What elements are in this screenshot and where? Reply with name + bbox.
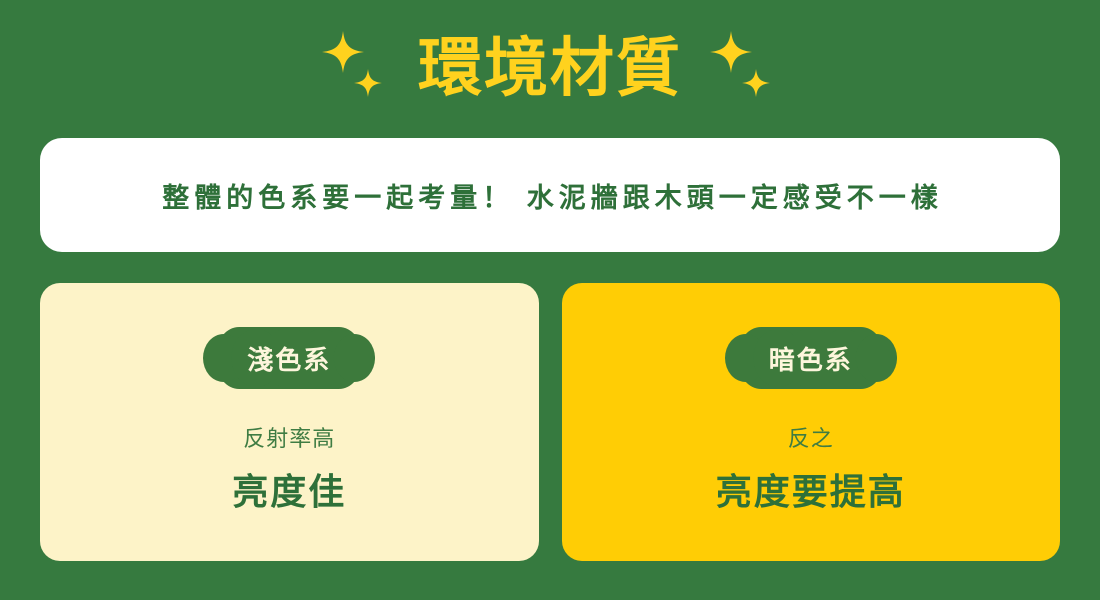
card-subtitle: 反之 <box>788 421 834 453</box>
card-dark-colors: 暗色系 反之 亮度要提高 <box>562 283 1061 561</box>
card-main-text: 亮度佳 <box>232 463 346 515</box>
badge-dark-colors: 暗色系 <box>725 327 897 389</box>
badge-label: 暗色系 <box>735 340 887 377</box>
headline-banner: 整體的色系要一起考量！ 水泥牆跟木頭一定感受不一樣 <box>40 138 1060 252</box>
sparkle-group-right <box>708 29 780 111</box>
title-block: 環境材質 <box>0 20 1100 120</box>
sparkle-icon <box>354 69 382 97</box>
page-title: 環境材質 <box>418 36 682 100</box>
card-main-text: 亮度要提高 <box>716 463 906 515</box>
card-subtitle: 反射率高 <box>243 421 335 453</box>
sparkle-group-left <box>320 29 392 111</box>
card-light-colors: 淺色系 反射率高 亮度佳 <box>40 283 539 561</box>
badge-label: 淺色系 <box>213 340 365 377</box>
comparison-cards: 淺色系 反射率高 亮度佳 暗色系 反之 亮度要提高 <box>40 283 1060 561</box>
sparkle-icon <box>322 31 364 73</box>
sparkle-icon <box>710 31 752 73</box>
sparkle-icon <box>742 69 770 97</box>
banner-text: 整體的色系要一起考量！ 水泥牆跟木頭一定感受不一樣 <box>157 176 943 215</box>
badge-light-colors: 淺色系 <box>203 327 375 389</box>
